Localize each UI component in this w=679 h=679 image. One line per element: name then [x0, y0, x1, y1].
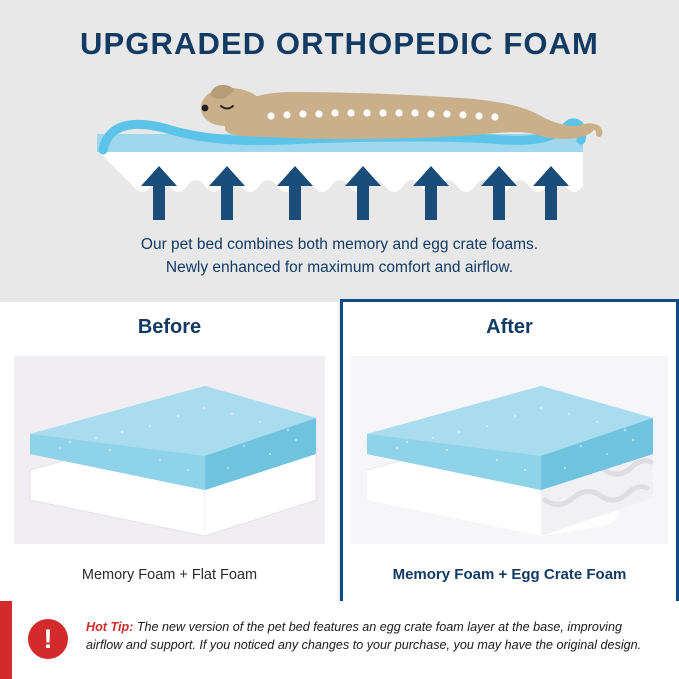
hot-tip-text: Hot Tip: The new version of the pet bed … — [86, 619, 656, 654]
top-section: UPGRADED ORTHOPEDIC FOAM — [0, 0, 679, 299]
page-title: UPGRADED ORTHOPEDIC FOAM — [0, 26, 679, 62]
exclamation-icon: ! — [28, 619, 68, 659]
subtext-block: Our pet bed combines both memory and egg… — [0, 233, 679, 279]
before-caption: Memory Foam + Flat Foam — [0, 567, 339, 583]
accent-bar — [0, 601, 12, 679]
before-foam-image — [0, 350, 339, 550]
subtext-line-2: Newly enhanced for maximum comfort and a… — [0, 256, 679, 279]
before-title: Before — [0, 316, 339, 339]
hot-tip-body: The new version of the pet bed features … — [86, 620, 641, 652]
before-panel: Before — [0, 299, 339, 601]
after-foam-image — [343, 350, 676, 550]
infographic-page: UPGRADED ORTHOPEDIC FOAM — [0, 0, 679, 679]
after-title: After — [343, 316, 676, 339]
dog-on-foam-bed-with-airflow-arrows-icon — [75, 78, 605, 223]
comparison-section: Before — [0, 299, 679, 601]
after-caption: Memory Foam + Egg Crate Foam — [343, 566, 676, 583]
subtext-line-1: Our pet bed combines both memory and egg… — [0, 233, 679, 256]
hot-tip-bar: ! Hot Tip: The new version of the pet be… — [0, 601, 679, 679]
after-panel: After — [340, 299, 679, 601]
hot-tip-label: Hot Tip: — [86, 620, 133, 634]
